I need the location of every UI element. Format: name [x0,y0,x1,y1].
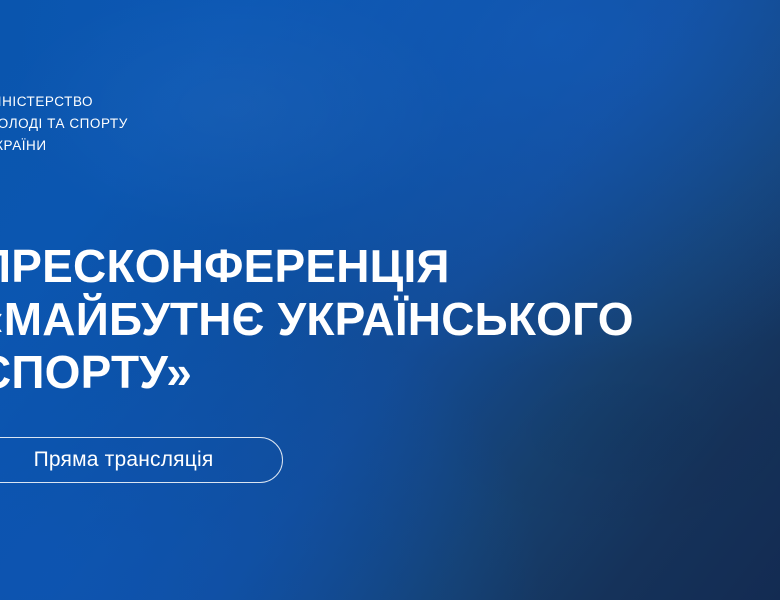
poster-content: МІНІСТЕРСТВО МОЛОДІ ТА СПОРТУ УКРАЇНИ ПР… [0,0,780,600]
ministry-logotype: МІНІСТЕРСТВО МОЛОДІ ТА СПОРТУ УКРАЇНИ [0,91,128,157]
ministry-line-2: МОЛОДІ ТА СПОРТУ [0,113,128,135]
page-title: ПРЕСКОНФЕРЕНЦІЯ «МАЙБУТНЄ УКРАЇНСЬКОГО С… [0,240,634,399]
live-stream-badge[interactable]: Пряма трансляція [0,437,283,483]
headline-line-3: СПОРТУ» [0,346,634,399]
headline-line-1: ПРЕСКОНФЕРЕНЦІЯ [0,240,634,293]
headline-line-2: «МАЙБУТНЄ УКРАЇНСЬКОГО [0,293,634,346]
live-stream-label: Пряма трансляція [34,448,214,472]
ministry-line-3: УКРАЇНИ [0,135,128,157]
poster-background: МІНІСТЕРСТВО МОЛОДІ ТА СПОРТУ УКРАЇНИ ПР… [0,0,780,600]
ministry-line-1: МІНІСТЕРСТВО [0,91,128,113]
